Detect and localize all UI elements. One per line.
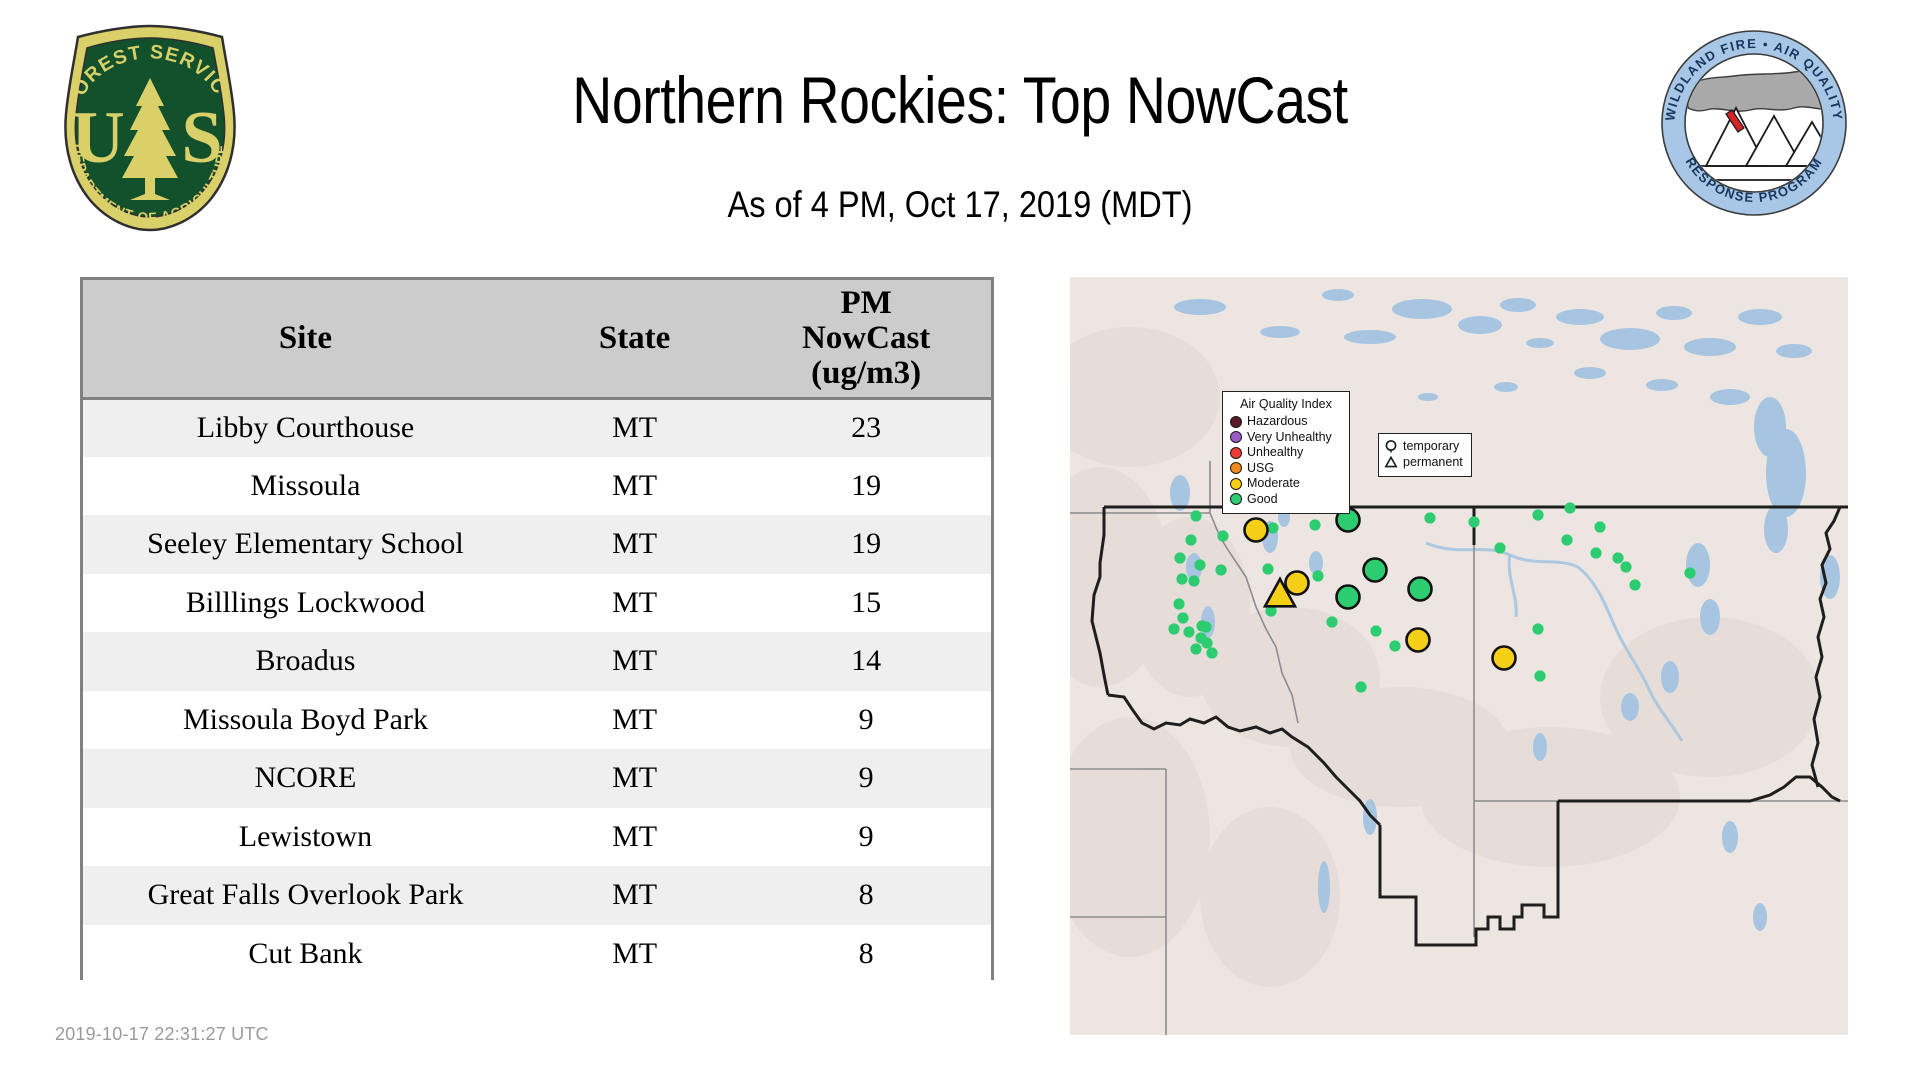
cell-state: MT bbox=[528, 749, 741, 808]
aqi-legend-label: Good bbox=[1247, 492, 1278, 508]
table-row: Lewistown MT 9 bbox=[83, 808, 991, 867]
monitor-dot-minor[interactable] bbox=[1206, 647, 1217, 658]
monitor-dot-minor[interactable] bbox=[1620, 561, 1631, 572]
monitor-dot-minor[interactable] bbox=[1185, 534, 1196, 545]
monitor-dot-minor[interactable] bbox=[1177, 612, 1188, 623]
monitor-dot-minor[interactable] bbox=[1183, 626, 1194, 637]
cell-state: MT bbox=[528, 515, 741, 574]
cell-pm: 8 bbox=[741, 925, 991, 984]
cell-pm: 8 bbox=[741, 866, 991, 925]
monitor-dot-minor[interactable] bbox=[1494, 542, 1505, 553]
legend-label: temporary bbox=[1403, 438, 1459, 454]
monitor-dot-minor[interactable] bbox=[1190, 643, 1201, 654]
monitor-dot-minor[interactable] bbox=[1532, 509, 1543, 520]
air-quality-map[interactable]: Air Quality Index Hazardous Very Unhealt… bbox=[1070, 277, 1848, 1035]
monitor-dot-minor[interactable] bbox=[1468, 516, 1479, 527]
cell-site: Missoula bbox=[83, 457, 528, 516]
monitor-dot-minor[interactable] bbox=[1594, 521, 1605, 532]
monitor-dot-major[interactable] bbox=[1364, 559, 1387, 582]
top-nowcast-table: Site State PM NowCast (ug/m3) Libby Cour… bbox=[80, 277, 994, 980]
monitor-dot-minor[interactable] bbox=[1561, 534, 1572, 545]
cell-state: MT bbox=[528, 457, 741, 516]
monitor-dot-major[interactable] bbox=[1493, 647, 1516, 670]
table-row: Billlings Lockwood MT 15 bbox=[83, 574, 991, 633]
legend-item-temporary: temporary bbox=[1384, 438, 1463, 454]
cell-state: MT bbox=[528, 574, 741, 633]
monitor-dot-minor[interactable] bbox=[1262, 563, 1273, 574]
monitor-dot-major[interactable] bbox=[1409, 578, 1432, 601]
wildland-fire-air-quality-logo: WILDLAND FIRE • AIR QUALITY RESPONSE PRO… bbox=[1658, 28, 1850, 218]
monitor-dot-major[interactable] bbox=[1286, 572, 1309, 595]
cell-state: MT bbox=[528, 808, 741, 867]
cell-pm: 9 bbox=[741, 808, 991, 867]
table-row: Great Falls Overlook Park MT 8 bbox=[83, 866, 991, 925]
cell-site: Lewistown bbox=[83, 808, 528, 867]
pm-header-line-1: PM bbox=[840, 285, 891, 321]
open-circle-icon bbox=[1384, 439, 1398, 453]
column-header-site[interactable]: Site bbox=[83, 280, 528, 398]
pm-header-line-2: NowCast bbox=[802, 320, 930, 356]
monitor-dot-minor[interactable] bbox=[1215, 564, 1226, 575]
open-triangle-icon bbox=[1384, 455, 1398, 469]
very-unhealthy-swatch-icon bbox=[1230, 431, 1242, 443]
table-row: Missoula MT 19 bbox=[83, 457, 991, 516]
monitor-dots-layer bbox=[1070, 277, 1848, 1035]
cell-pm: 19 bbox=[741, 515, 991, 574]
monitor-dot-minor[interactable] bbox=[1684, 567, 1695, 578]
monitor-dot-minor[interactable] bbox=[1309, 519, 1320, 530]
aqi-legend-item-usg: USG bbox=[1230, 461, 1342, 477]
table-row: Libby Courthouse MT 23 bbox=[83, 398, 991, 457]
monitor-type-legend: temporary permanent bbox=[1378, 433, 1472, 477]
monitor-dot-major[interactable] bbox=[1245, 519, 1268, 542]
monitor-dot-minor[interactable] bbox=[1370, 625, 1381, 636]
aqi-legend-item-moderate: Moderate bbox=[1230, 476, 1342, 492]
monitor-dot-minor[interactable] bbox=[1176, 573, 1187, 584]
aqi-legend-label: Moderate bbox=[1247, 476, 1300, 492]
legend-label: permanent bbox=[1403, 454, 1463, 470]
monitor-dot-minor[interactable] bbox=[1355, 681, 1366, 692]
table-row: Seeley Elementary School MT 19 bbox=[83, 515, 991, 574]
cell-pm: 9 bbox=[741, 749, 991, 808]
hazardous-swatch-icon bbox=[1230, 416, 1242, 428]
aqi-legend: Air Quality Index Hazardous Very Unhealt… bbox=[1222, 391, 1350, 514]
slide-root: FOREST SERVICE U S DEPARTMENT OF AGRICUL… bbox=[0, 0, 1920, 1080]
cell-site: Billlings Lockwood bbox=[83, 574, 528, 633]
table-row: Cut Bank MT 8 bbox=[83, 925, 991, 984]
aqi-legend-item-very-unhealthy: Very Unhealthy bbox=[1230, 430, 1342, 446]
monitor-dot-minor[interactable] bbox=[1190, 510, 1201, 521]
cell-state: MT bbox=[528, 691, 741, 750]
cell-pm: 14 bbox=[741, 632, 991, 691]
monitor-dot-minor[interactable] bbox=[1174, 552, 1185, 563]
page-subtitle: As of 4 PM, Oct 17, 2019 (MDT) bbox=[379, 184, 1541, 226]
monitor-dot-minor[interactable] bbox=[1217, 530, 1228, 541]
page-title: Northern Rockies: Top NowCast bbox=[406, 62, 1515, 138]
aqi-legend-item-hazardous: Hazardous bbox=[1230, 414, 1342, 430]
column-header-state[interactable]: State bbox=[528, 280, 741, 398]
monitor-dot-minor[interactable] bbox=[1188, 575, 1199, 586]
footer-timestamp: 2019-10-17 22:31:27 UTC bbox=[55, 1024, 269, 1045]
aqi-legend-item-good: Good bbox=[1230, 492, 1342, 508]
pm-header-line-3: (ug/m3) bbox=[811, 355, 921, 391]
monitor-dot-minor[interactable] bbox=[1201, 637, 1212, 648]
cell-site: Broadus bbox=[83, 632, 528, 691]
monitor-dot-minor[interactable] bbox=[1326, 616, 1337, 627]
monitor-dot-minor[interactable] bbox=[1424, 512, 1435, 523]
cell-site: Seeley Elementary School bbox=[83, 515, 528, 574]
column-header-pm-nowcast[interactable]: PM NowCast (ug/m3) bbox=[741, 280, 991, 398]
cell-site: Great Falls Overlook Park bbox=[83, 866, 528, 925]
aqi-legend-item-unhealthy: Unhealthy bbox=[1230, 445, 1342, 461]
cell-pm: 23 bbox=[741, 398, 991, 457]
good-swatch-icon bbox=[1230, 493, 1242, 505]
aqi-legend-title: Air Quality Index bbox=[1230, 397, 1342, 411]
monitor-dot-minor[interactable] bbox=[1590, 547, 1601, 558]
monitor-dot-minor[interactable] bbox=[1173, 598, 1184, 609]
monitor-dot-minor[interactable] bbox=[1389, 640, 1400, 651]
cell-site: Cut Bank bbox=[83, 925, 528, 984]
cell-site: NCORE bbox=[83, 749, 528, 808]
usfs-shield-logo: FOREST SERVICE U S DEPARTMENT OF AGRICUL… bbox=[52, 22, 248, 234]
monitor-dot-minor[interactable] bbox=[1612, 552, 1623, 563]
cell-site: Libby Courthouse bbox=[83, 398, 528, 457]
monitor-dot-minor[interactable] bbox=[1564, 502, 1575, 513]
aqi-legend-label: Very Unhealthy bbox=[1247, 430, 1332, 446]
aqi-legend-label: USG bbox=[1247, 461, 1274, 477]
monitor-dot-minor[interactable] bbox=[1194, 559, 1205, 570]
monitor-dot-minor[interactable] bbox=[1629, 579, 1640, 590]
monitor-dot-minor[interactable] bbox=[1534, 670, 1545, 681]
aqi-legend-label: Hazardous bbox=[1247, 414, 1307, 430]
cell-state: MT bbox=[528, 866, 741, 925]
aqi-legend-label: Unhealthy bbox=[1247, 445, 1303, 461]
table-row: NCORE MT 9 bbox=[83, 749, 991, 808]
cell-pm: 19 bbox=[741, 457, 991, 516]
cell-site: Missoula Boyd Park bbox=[83, 691, 528, 750]
monitor-dot-major[interactable] bbox=[1337, 586, 1360, 609]
monitor-dot-minor[interactable] bbox=[1312, 570, 1323, 581]
monitor-dot-major[interactable] bbox=[1407, 629, 1430, 652]
legend-item-permanent: permanent bbox=[1384, 454, 1463, 470]
monitor-dot-minor[interactable] bbox=[1267, 522, 1278, 533]
table-row: Broadus MT 14 bbox=[83, 632, 991, 691]
moderate-swatch-icon bbox=[1230, 478, 1242, 490]
table-header-row: Site State PM NowCast (ug/m3) bbox=[83, 280, 991, 398]
cell-pm: 15 bbox=[741, 574, 991, 633]
usg-swatch-icon bbox=[1230, 462, 1242, 474]
major-monitor-dots bbox=[1245, 509, 1516, 670]
monitor-dot-minor[interactable] bbox=[1200, 621, 1211, 632]
cell-state: MT bbox=[528, 925, 741, 984]
unhealthy-swatch-icon bbox=[1230, 447, 1242, 459]
cell-pm: 9 bbox=[741, 691, 991, 750]
cell-state: MT bbox=[528, 398, 741, 457]
monitor-dot-minor[interactable] bbox=[1532, 623, 1543, 634]
table-body: Libby Courthouse MT 23 Missoula MT 19 Se… bbox=[83, 398, 991, 983]
monitor-dot-minor[interactable] bbox=[1168, 623, 1179, 634]
cell-state: MT bbox=[528, 632, 741, 691]
table-row: Missoula Boyd Park MT 9 bbox=[83, 691, 991, 750]
